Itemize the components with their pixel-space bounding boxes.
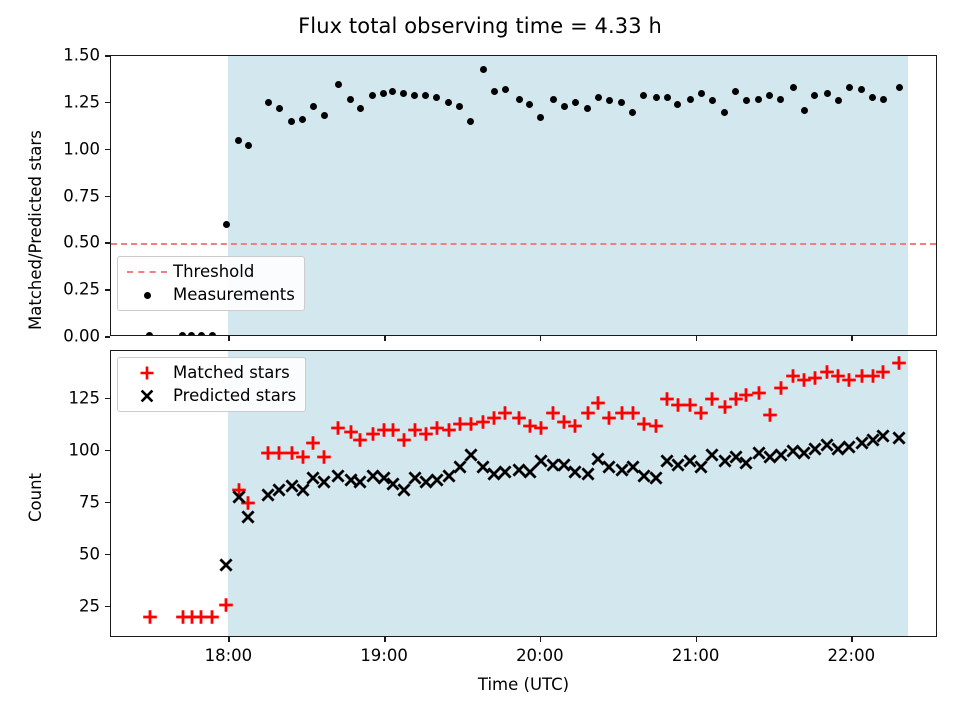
y-tick-label: 100 [0, 440, 100, 459]
x-axis-title: Time (UTC) [478, 675, 569, 694]
figure-root: Flux total observing time = 4.33 h 0.000… [0, 0, 960, 720]
data-point-measurement [209, 332, 216, 336]
y-tick-mark [105, 398, 110, 400]
y-tick-label: 0.75 [0, 186, 100, 205]
data-point-measurement [801, 107, 808, 114]
data-point-measurement [198, 332, 205, 336]
y-tick-mark [105, 196, 110, 198]
data-point-measurement [433, 94, 440, 101]
y-tick-label: 1.25 [0, 92, 100, 111]
observing-window-shading [228, 56, 909, 335]
y-tick-mark [105, 102, 110, 104]
x-tick-mark [228, 637, 230, 642]
y-tick-mark [105, 554, 110, 556]
data-point-measurement [640, 92, 647, 99]
ratio-panel-y-axis-title: Matched/Predicted stars [26, 130, 45, 330]
data-point-measurement [310, 103, 317, 110]
y-tick-label: 0.50 [0, 233, 100, 252]
observing-window-shading [228, 351, 909, 636]
data-point-measurement [146, 332, 153, 336]
data-point-measurement [245, 142, 252, 149]
legend-item-measurements[interactable]: Measurements [125, 286, 295, 304]
data-point-measurement [584, 105, 591, 112]
y-tick-label: 0.00 [0, 327, 100, 346]
page-title: Flux total observing time = 4.33 h [0, 14, 960, 38]
measurement-dot-icon [125, 286, 169, 304]
data-point-measurement [687, 96, 694, 103]
x-tick-mark [228, 336, 230, 341]
x-tick-label: 18:00 [205, 646, 253, 665]
data-point-measurement [335, 81, 342, 88]
data-point-measurement [880, 96, 887, 103]
data-point-measurement [276, 105, 283, 112]
x-tick-mark [384, 336, 386, 341]
data-point-measurement [235, 137, 242, 144]
y-tick-mark [105, 242, 110, 244]
data-point-measurement [572, 99, 579, 106]
y-tick-label: 1.00 [0, 139, 100, 158]
data-point-measurement [664, 94, 671, 101]
data-point-measurement [755, 96, 762, 103]
legend-item-predicted-stars[interactable]: Predicted stars [125, 387, 296, 405]
data-point-measurement [491, 88, 498, 95]
data-point-measurement [790, 84, 797, 91]
data-point-measurement [179, 332, 186, 336]
y-tick-label: 75 [0, 492, 100, 511]
data-point-measurement [777, 96, 784, 103]
x-marker-icon [125, 387, 169, 405]
data-point-measurement [369, 92, 376, 99]
y-tick-label: 125 [0, 388, 100, 407]
y-tick-mark [105, 289, 110, 291]
x-tick-label: 19:00 [360, 646, 408, 665]
x-tick-label: 21:00 [672, 646, 720, 665]
legend-item-threshold[interactable]: Threshold [125, 263, 295, 281]
y-tick-mark [105, 336, 110, 338]
y-tick-label: 0.25 [0, 280, 100, 299]
x-tick-mark [540, 336, 542, 341]
data-point-measurement [629, 109, 636, 116]
x-tick-mark [384, 637, 386, 642]
counts-panel-y-axis-title: Count [26, 472, 45, 521]
data-point-measurement [721, 109, 728, 116]
y-tick-label: 1.50 [0, 46, 100, 65]
threshold-dashed-line-icon [125, 263, 169, 281]
y-tick-label: 25 [0, 596, 100, 615]
y-tick-mark [105, 149, 110, 151]
x-tick-label: 20:00 [516, 646, 564, 665]
legend-label-measurements: Measurements [173, 286, 295, 303]
plus-marker-icon [125, 364, 169, 382]
data-point-measurement [347, 96, 354, 103]
data-point-measurement [595, 94, 602, 101]
y-tick-mark [105, 55, 110, 57]
data-point-measurement [188, 332, 195, 336]
legend-label-threshold: Threshold [173, 263, 254, 280]
ratio-panel-legend[interactable]: Threshold Measurements [117, 256, 305, 311]
data-point-measurement [869, 94, 876, 101]
x-tick-mark [540, 637, 542, 642]
data-point-measurement [411, 92, 418, 99]
counts-panel-legend[interactable]: Matched stars Predicted stars [117, 357, 306, 412]
data-point-measurement [502, 86, 509, 93]
threshold-line [111, 243, 936, 245]
x-tick-mark [851, 637, 853, 642]
x-tick-mark [851, 336, 853, 341]
data-point-measurement [480, 66, 487, 73]
data-point-measurement [698, 90, 705, 97]
data-point-measurement [516, 96, 523, 103]
y-tick-mark [105, 606, 110, 608]
data-point-measurement [896, 84, 903, 91]
data-point-measurement [357, 105, 364, 112]
legend-label-matched-stars: Matched stars [173, 364, 290, 381]
data-point-measurement [550, 96, 557, 103]
y-tick-mark [105, 502, 110, 504]
data-point-measurement [380, 90, 387, 97]
data-point-measurement [223, 221, 230, 228]
data-point-measurement [422, 92, 429, 99]
data-point-measurement [561, 103, 568, 110]
data-point-measurement [653, 94, 660, 101]
x-tick-label: 22:00 [828, 646, 876, 665]
x-tick-mark [696, 637, 698, 642]
legend-label-predicted-stars: Predicted stars [173, 387, 296, 404]
y-tick-label: 50 [0, 544, 100, 563]
data-point-measurement [824, 90, 831, 97]
x-tick-mark [696, 336, 698, 341]
legend-item-matched-stars[interactable]: Matched stars [125, 364, 296, 382]
y-tick-mark [105, 450, 110, 452]
